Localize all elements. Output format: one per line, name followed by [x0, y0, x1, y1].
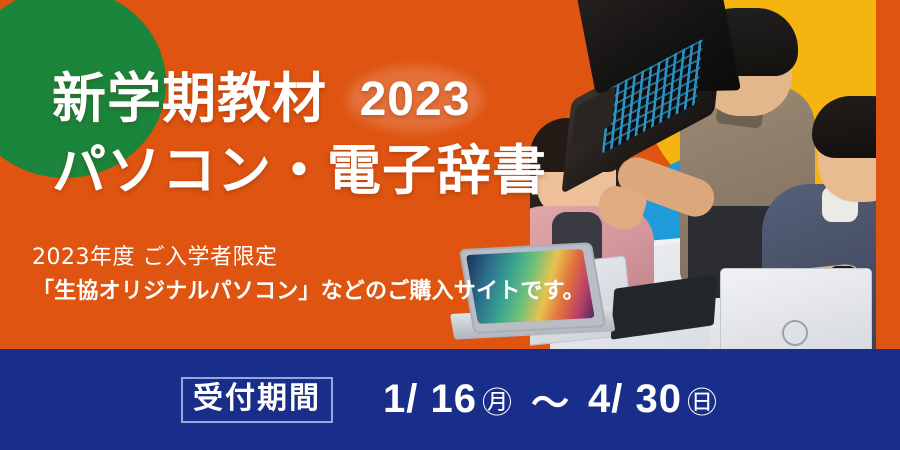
subcopy-block: 2023年度 ご入学者限定 「生協オリジナルパソコン」などのご購入サイトです。	[32, 243, 585, 306]
year-badge: 2023	[347, 66, 483, 132]
period-range-mark: 〜	[531, 372, 570, 427]
promo-banner: 新学期教材 2023 パソコン・電子辞書 2023年度 ご入学者限定 「生協オリ…	[0, 0, 900, 450]
subcopy-line-2: 「生協オリジナルパソコン」などのご購入サイトです。	[32, 277, 585, 307]
period-start-day-icon: ㊊	[482, 378, 513, 422]
headline-line-1: 新学期教材	[52, 72, 327, 126]
period-end-date: 4/ 30	[588, 377, 682, 422]
period-start-date: 1/ 16	[383, 377, 477, 422]
period-end-day-icon: ㊐	[687, 378, 718, 422]
period-label-box: 受付期間	[181, 377, 333, 423]
application-period-bar: 受付期間 1/ 16 ㊊ 〜 4/ 30 ㊐	[0, 349, 900, 450]
year-badge-label: 2023	[360, 72, 471, 127]
right-edge-orange-strip	[876, 0, 900, 349]
headline-line-2: パソコン・電子辞書	[52, 144, 547, 198]
dell-logo-icon	[782, 320, 808, 346]
period-date-range: 1/ 16 ㊊ 〜 4/ 30 ㊐	[383, 372, 718, 427]
headline-row-1: 新学期教材 2023	[52, 66, 483, 132]
subcopy-line-1: 2023年度 ご入学者限定	[32, 243, 585, 273]
